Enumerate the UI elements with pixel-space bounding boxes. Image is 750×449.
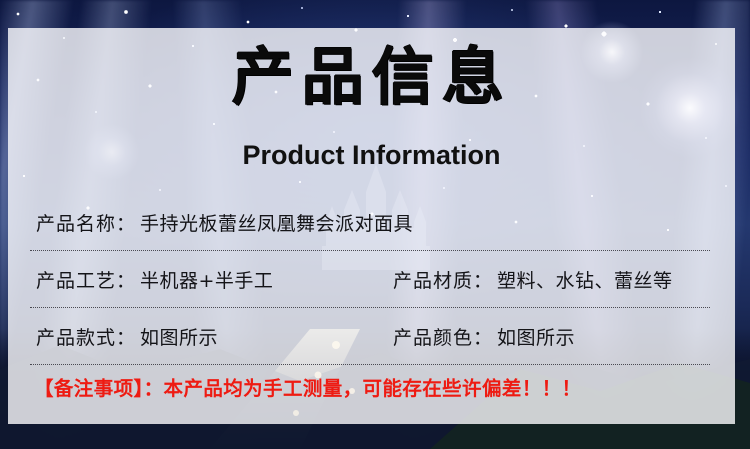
spec-style: 产品款式： 如图所示: [36, 323, 393, 350]
spec-value: 如图所示: [140, 323, 218, 350]
panel-header: 产品信息 Product Information: [8, 28, 735, 178]
page-title-cn: 产品信息: [8, 34, 735, 120]
product-information-banner: 产品信息 Product Information 产品名称： 手持光板蕾丝凤凰舞…: [0, 0, 750, 449]
spec-product-name: 产品名称： 手持光板蕾丝凤凰舞会派对面具: [36, 209, 393, 236]
spec-material: 产品材质： 塑料、水钻、蕾丝等: [393, 266, 713, 293]
spec-label: 产品名称：: [36, 209, 136, 236]
spec-label: 产品款式：: [36, 323, 136, 350]
remark-note: 【备注事项】：本产品均为手工测量，可能存在些许偏差！！！: [8, 365, 735, 407]
spec-label: 产品颜色：: [393, 323, 493, 350]
spec-value: 半机器+半手工: [140, 266, 273, 293]
spec-craft: 产品工艺： 半机器+半手工: [36, 266, 393, 293]
spec-value: 如图所示: [497, 323, 575, 350]
table-row: 产品名称： 手持光板蕾丝凤凰舞会派对面具: [8, 194, 735, 251]
spec-label: 产品材质：: [393, 266, 493, 293]
spec-value: 手持光板蕾丝凤凰舞会派对面具: [140, 209, 413, 236]
info-panel: 产品信息 Product Information 产品名称： 手持光板蕾丝凤凰舞…: [8, 28, 735, 424]
page-title-en: Product Information: [8, 138, 735, 172]
spec-table: 产品名称： 手持光板蕾丝凤凰舞会派对面具 产品工艺： 半机器+半手工 产品材质：…: [8, 194, 735, 365]
spec-color: 产品颜色： 如图所示: [393, 323, 713, 350]
table-row: 产品工艺： 半机器+半手工 产品材质： 塑料、水钻、蕾丝等: [8, 251, 735, 308]
spec-label: 产品工艺：: [36, 266, 136, 293]
table-row: 产品款式： 如图所示 产品颜色： 如图所示: [8, 308, 735, 365]
remark-note-text: 【备注事项】：本产品均为手工测量，可能存在些许偏差！！！: [34, 372, 581, 401]
spec-value: 塑料、水钻、蕾丝等: [497, 266, 673, 293]
